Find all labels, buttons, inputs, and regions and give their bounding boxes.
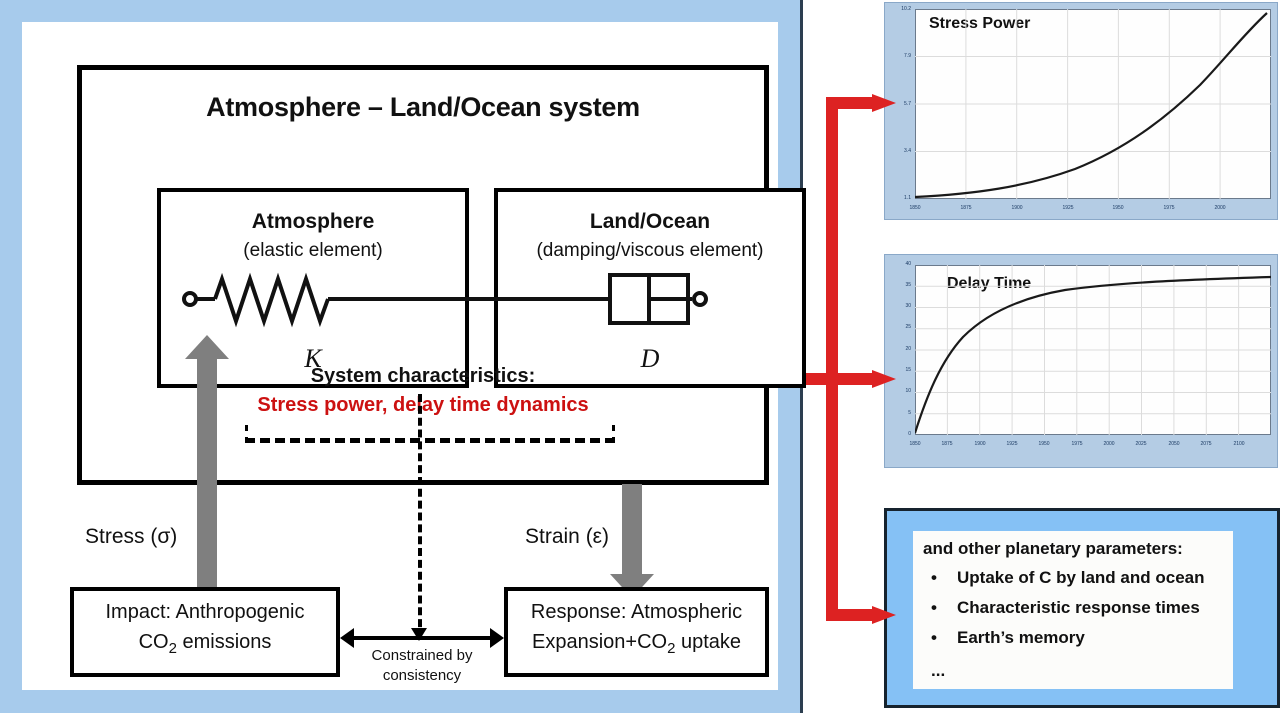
list-item: Earth’s memory <box>923 625 1205 651</box>
stress-xtick-3: 1925 <box>1054 205 1082 211</box>
planetary-parameters-list: Uptake of C by land and ocean Characteri… <box>923 565 1205 655</box>
system-characteristics-value: Stress power, delay time dynamics <box>82 394 764 417</box>
diagram-canvas: Atmosphere – Land/Ocean system Atmospher… <box>22 22 778 690</box>
delay-xtick-6: 2000 <box>1095 441 1123 447</box>
planetary-parameters-content: and other planetary parameters: Uptake o… <box>913 531 1233 689</box>
system-characteristics-label: System characteristics: <box>82 365 764 388</box>
stress-xtick-6: 2000 <box>1206 205 1234 211</box>
impact-co2-subscript: 2 <box>169 640 177 657</box>
planetary-parameters-heading: and other planetary parameters: <box>923 539 1183 559</box>
stress-arrow-shaft <box>197 355 217 600</box>
stress-label: Stress (σ) <box>85 525 177 549</box>
system-box: Atmosphere – Land/Ocean system Atmospher… <box>77 65 769 485</box>
landocean-element-box: Land/Ocean (damping/viscous element) D <box>494 188 806 388</box>
landocean-title: Land/Ocean <box>498 210 802 234</box>
stress-xtick-5: 1975 <box>1155 205 1183 211</box>
response-line-1: Response: Atmospheric <box>508 601 765 624</box>
delay-xtick-2: 1900 <box>966 441 994 447</box>
stress-xtick-4: 1950 <box>1104 205 1132 211</box>
stress-xtick-2: 1900 <box>1003 205 1031 211</box>
dashed-highlight-bracket <box>245 425 615 443</box>
delay-xtick-9: 2075 <box>1192 441 1220 447</box>
delay-xtick-3: 1925 <box>998 441 1026 447</box>
delay-xtick-4: 1950 <box>1030 441 1058 447</box>
delay-xtick-8: 2050 <box>1160 441 1188 447</box>
consistency-arrow-head-left-icon <box>340 628 354 648</box>
response-line-2: Expansion+CO2 uptake <box>508 631 765 657</box>
stress-power-curve <box>915 9 1271 199</box>
stress-arrow-head-icon <box>185 335 229 359</box>
delay-time-chart: Delay Time 4 <box>884 254 1278 468</box>
response-co2-suffix: uptake <box>675 631 741 653</box>
atmosphere-title: Atmosphere <box>161 210 465 234</box>
response-co2-prefix: Expansion+CO <box>532 631 667 653</box>
stress-xtick-1: 1875 <box>952 205 980 211</box>
strain-arrow-shaft <box>622 484 642 577</box>
consistency-label: Constrained by consistency <box>340 646 504 686</box>
atmosphere-subtitle: (elastic element) <box>161 240 465 262</box>
delay-xtick-7: 2025 <box>1127 441 1155 447</box>
landocean-subtitle: (damping/viscous element) <box>498 240 802 262</box>
planetary-parameters-card: and other planetary parameters: Uptake o… <box>884 508 1280 708</box>
delay-xtick-5: 1975 <box>1063 441 1091 447</box>
left-diagram-panel: Atmosphere – Land/Ocean system Atmospher… <box>0 0 803 713</box>
planetary-parameters-ellipsis: ... <box>931 661 945 681</box>
list-item: Uptake of C by land and ocean <box>923 565 1205 591</box>
impact-co2-suffix: emissions <box>177 631 271 653</box>
list-item: Characteristic response times <box>923 595 1205 621</box>
delay-time-curve <box>915 265 1271 435</box>
stress-power-chart: Stress Power 10.2 7.9 5.7 3.4 1.1 1850 1… <box>884 2 1278 220</box>
page-title: Atmosphere – Land/Ocean system <box>82 92 764 123</box>
impact-co2-prefix: CO <box>139 631 169 653</box>
consistency-dashed-connector <box>418 394 422 639</box>
impact-box: Impact: Anthropogenic CO2 emissions <box>70 587 340 677</box>
consistency-arrow-line <box>352 636 492 640</box>
response-box: Response: Atmospheric Expansion+CO2 upta… <box>504 587 769 677</box>
delay-xtick-1: 1875 <box>933 441 961 447</box>
red-connector-arrows <box>806 0 926 713</box>
impact-line-2: CO2 emissions <box>74 631 336 657</box>
impact-line-1: Impact: Anthropogenic <box>74 601 336 624</box>
consistency-arrow-head-right-icon <box>490 628 504 648</box>
delay-xtick-10: 2100 <box>1225 441 1253 447</box>
strain-label: Strain (ε) <box>525 525 609 549</box>
